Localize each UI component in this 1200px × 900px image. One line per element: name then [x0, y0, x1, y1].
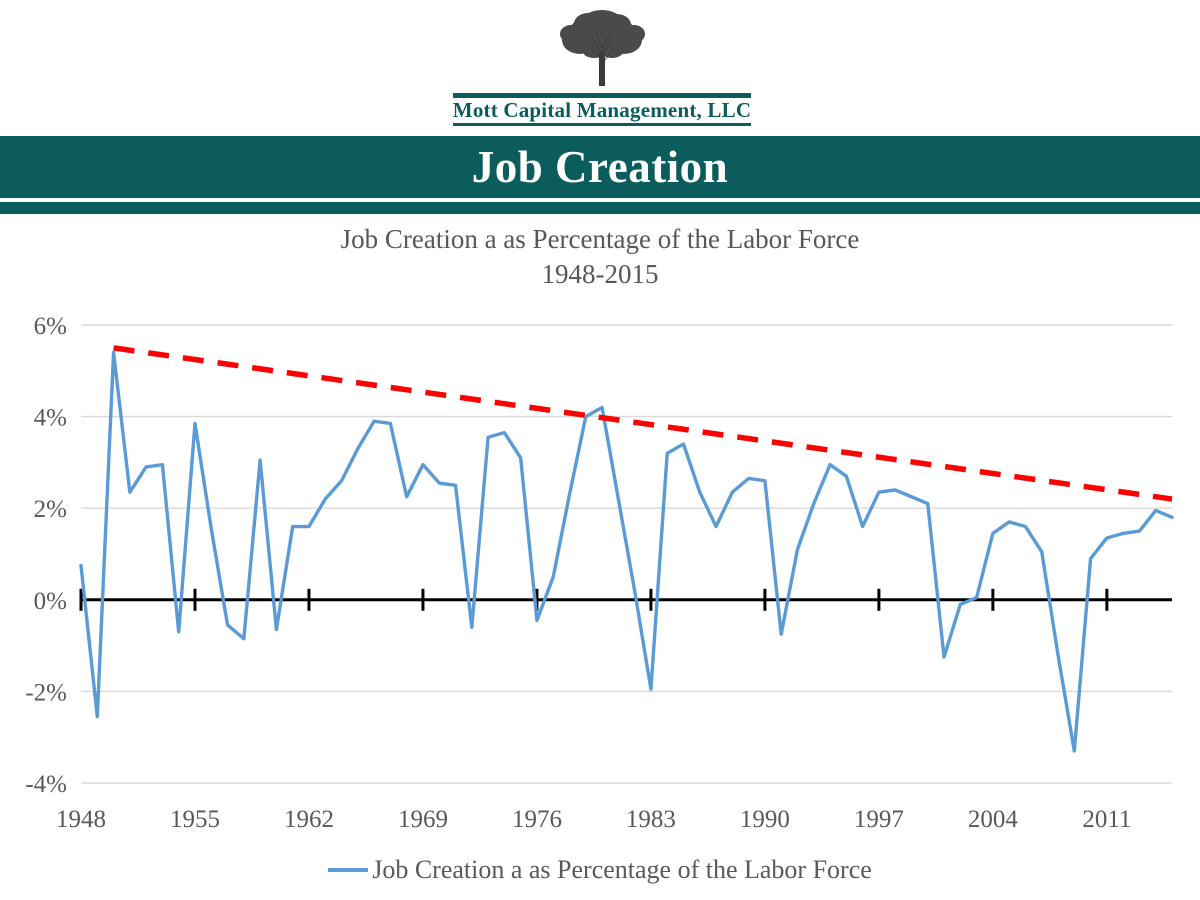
svg-text:1962: 1962: [284, 806, 334, 833]
svg-text:1976: 1976: [512, 806, 562, 833]
logo-block: Mott Capital Management, LLC: [0, 0, 1200, 132]
banner-underbar: [0, 202, 1200, 214]
svg-text:2011: 2011: [1082, 806, 1131, 833]
svg-text:1969: 1969: [398, 806, 448, 833]
svg-text:2004: 2004: [968, 806, 1019, 833]
svg-text:1983: 1983: [626, 806, 676, 833]
svg-text:2%: 2%: [34, 496, 67, 523]
x-axis-tick-labels: 1948195519621969197619831990199720042011: [56, 806, 1131, 833]
svg-text:4%: 4%: [34, 405, 67, 432]
svg-text:0%: 0%: [34, 588, 67, 615]
svg-text:1990: 1990: [740, 806, 790, 833]
svg-text:1955: 1955: [170, 806, 220, 833]
chart-legend: Job Creation a as Percentage of the Labo…: [0, 848, 1200, 892]
svg-text:6%: 6%: [34, 313, 67, 340]
svg-text:-4%: -4%: [25, 771, 67, 798]
svg-text:-2%: -2%: [25, 679, 67, 706]
logo: Mott Capital Management, LLC: [452, 6, 752, 126]
svg-text:1948: 1948: [56, 806, 106, 833]
logo-rule-bottom: [453, 123, 751, 126]
legend-swatch-job-creation: [328, 868, 368, 872]
y-axis-tick-labels: 6%4%2%0%-2%-4%: [25, 313, 67, 798]
title-banner: Job Creation: [0, 136, 1200, 198]
chart-plot: 6%4%2%0%-2%-4% 1948195519621969197619831…: [0, 214, 1200, 900]
trendline: [114, 348, 1172, 499]
chart-container: Job Creation a as Percentage of the Labo…: [0, 214, 1200, 900]
page-title: Job Creation: [0, 136, 1200, 198]
svg-text:1997: 1997: [854, 806, 904, 833]
company-name: Mott Capital Management, LLC: [452, 98, 752, 122]
tree-icon: [542, 6, 662, 92]
legend-label-job-creation: Job Creation a as Percentage of the Labo…: [372, 855, 872, 885]
